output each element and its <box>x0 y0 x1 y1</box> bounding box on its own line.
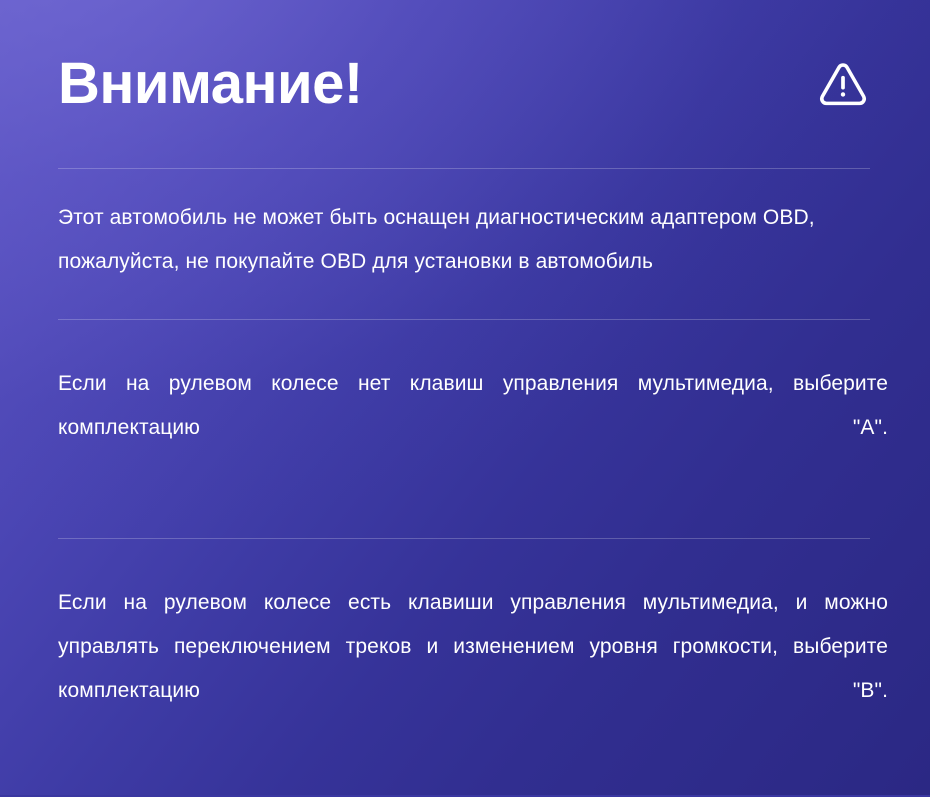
section-trim-b: Если на рулевом колесе есть клавиши упра… <box>58 539 888 797</box>
header: Внимание! <box>58 0 872 168</box>
section-trim-a: Если на рулевом колесе нет клавиш управл… <box>58 320 888 538</box>
section-text: Если на рулевом колесе нет клавиш управл… <box>58 362 888 494</box>
section-text: Этот автомобиль не может быть оснащен ди… <box>58 196 888 284</box>
section-text: Если на рулевом колесе есть клавиши упра… <box>58 581 888 757</box>
warning-triangle-icon <box>816 57 872 111</box>
section-obd-warning: Этот автомобиль не может быть оснащен ди… <box>58 169 888 319</box>
warning-screen: Внимание! Этот автомобиль не может быть … <box>0 0 930 795</box>
content-container: Внимание! Этот автомобиль не может быть … <box>0 0 930 795</box>
page-title: Внимание! <box>58 54 363 115</box>
